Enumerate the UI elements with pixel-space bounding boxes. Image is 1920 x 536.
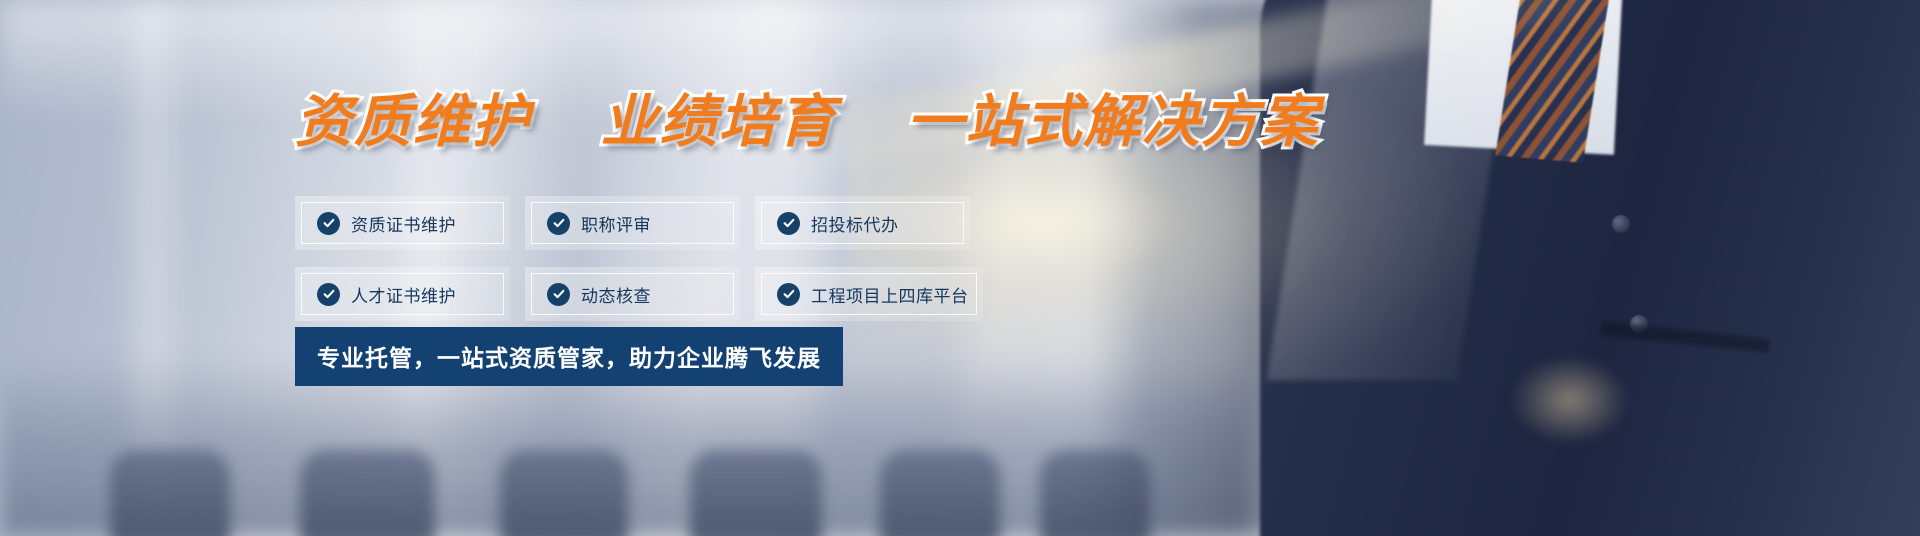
promo-banner: 资质维护 业绩培育 一站式解决方案 资质证书维护 职称评审 [0,0,1920,536]
check-circle-icon [317,283,340,306]
feature-label: 人才证书维护 [351,282,456,307]
headline-part-3: 一站式解决方案 [906,90,1319,154]
feature-label: 资质证书维护 [351,211,456,236]
headline-part-1: 资质维护 [295,90,531,154]
feature-item-bidding-agency[interactable]: 招投标代办 [755,196,970,250]
feature-label: 动态核查 [581,282,651,307]
check-circle-icon [317,212,340,235]
check-circle-icon [547,212,570,235]
feature-label: 职称评审 [581,211,651,236]
tagline-bar: 专业托管，一站式资质管家，助力企业腾飞发展 [295,327,843,386]
check-circle-icon [777,283,800,306]
feature-label: 工程项目上四库平台 [811,282,969,307]
feature-grid: 资质证书维护 职称评审 招投标代办 人才证书维护 [295,196,970,321]
feature-item-title-review[interactable]: 职称评审 [525,196,740,250]
feature-item-talent-certificate[interactable]: 人才证书维护 [295,267,510,321]
feature-label: 招投标代办 [811,211,899,236]
check-circle-icon [547,283,570,306]
feature-item-four-database-platform[interactable]: 工程项目上四库平台 [755,267,983,321]
feature-item-qualification-certificate[interactable]: 资质证书维护 [295,196,510,250]
feature-item-dynamic-inspection[interactable]: 动态核查 [525,267,740,321]
banner-content: 资质维护 业绩培育 一站式解决方案 资质证书维护 职称评审 [0,0,1920,536]
tagline-text: 专业托管，一站式资质管家，助力企业腾飞发展 [317,345,821,371]
headline-part-2: 业绩培育 [601,90,837,154]
banner-headline: 资质维护 业绩培育 一站式解决方案 [295,76,1319,158]
check-circle-icon [777,212,800,235]
